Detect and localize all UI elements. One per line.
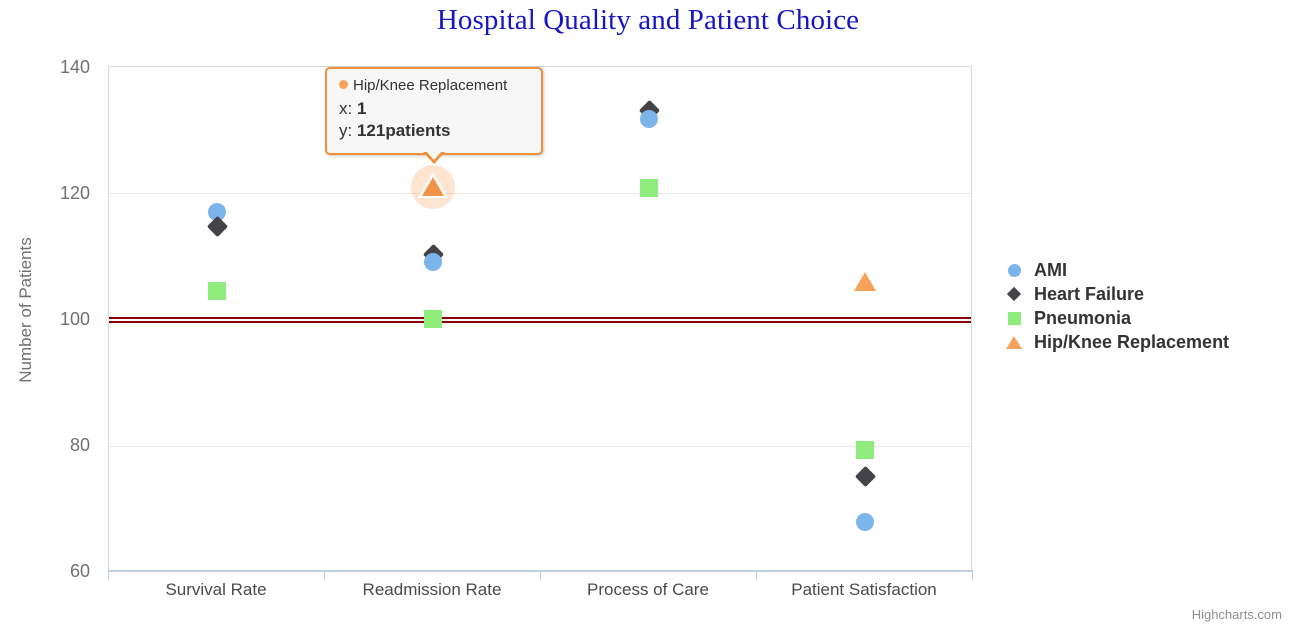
tooltip-y-label: y:: [339, 121, 352, 140]
legend-item-pneumonia[interactable]: Pneumonia: [1003, 306, 1229, 330]
point-ami-readmission-rate[interactable]: [424, 253, 442, 271]
chart-container: Hospital Quality and Patient Choice 140 …: [0, 0, 1296, 628]
tooltip-header: Hip/Knee Replacement: [339, 77, 529, 94]
tooltip-x-row: x: 1: [339, 98, 529, 120]
legend-diamond-icon: [1003, 289, 1025, 299]
legend-triangle-icon: [1003, 336, 1025, 349]
legend-item-ami[interactable]: AMI: [1003, 258, 1229, 282]
x-tick-1: [324, 571, 325, 580]
point-pneumonia-survival-rate[interactable]: [208, 282, 226, 300]
legend-label-pneumonia: Pneumonia: [1034, 308, 1131, 329]
legend-item-hip-knee-replacement[interactable]: Hip/Knee Replacement: [1003, 330, 1229, 354]
x-tick-0: [108, 571, 109, 580]
legend-label-hip-knee-replacement: Hip/Knee Replacement: [1034, 332, 1229, 353]
point-pneumonia-readmission-rate[interactable]: [424, 310, 442, 328]
tooltip-y-value: 121patients: [357, 121, 451, 140]
x-tick-3: [756, 571, 757, 580]
y-axis-title: Number of Patients: [16, 210, 36, 410]
point-hip-knee-patient-satisfaction[interactable]: [854, 272, 876, 291]
x-category-patient-satisfaction: Patient Satisfaction: [756, 580, 972, 600]
tooltip-x-value: 1: [357, 99, 366, 118]
x-tick-2: [540, 571, 541, 580]
point-heart-failure-survival-rate[interactable]: [207, 216, 228, 237]
legend-label-ami: AMI: [1034, 260, 1067, 281]
tooltip-series-name: Hip/Knee Replacement: [353, 77, 507, 94]
y-tick-label-120: 120: [30, 183, 90, 204]
legend: AMI Heart Failure Pneumonia Hip/Knee Rep…: [1003, 258, 1229, 354]
y-tick-label-60: 60: [30, 561, 90, 582]
point-pneumonia-process-of-care[interactable]: [640, 179, 658, 197]
gridline-120: [109, 193, 971, 194]
tooltip-arrow-fill: [426, 151, 442, 160]
x-tick-4: [972, 571, 973, 580]
x-category-process-of-care: Process of Care: [540, 580, 756, 600]
y-tick-label-80: 80: [30, 435, 90, 456]
point-ami-process-of-care[interactable]: [640, 110, 658, 128]
x-category-survival-rate: Survival Rate: [108, 580, 324, 600]
chart-title: Hospital Quality and Patient Choice: [0, 4, 1296, 37]
tooltip-x-label: x:: [339, 99, 352, 118]
legend-label-heart-failure: Heart Failure: [1034, 284, 1144, 305]
y-tick-label-100: 100: [30, 309, 90, 330]
legend-square-icon: [1003, 312, 1025, 325]
point-heart-failure-patient-satisfaction[interactable]: [855, 466, 876, 487]
tooltip-y-row: y: 121patients: [339, 120, 529, 142]
legend-item-heart-failure[interactable]: Heart Failure: [1003, 282, 1229, 306]
y-tick-label-140: 140: [30, 57, 90, 78]
highcharts-credit[interactable]: Highcharts.com: [1192, 607, 1282, 622]
tooltip-series-dot-icon: [339, 80, 348, 89]
x-category-readmission-rate: Readmission Rate: [324, 580, 540, 600]
gridline-80: [109, 446, 971, 447]
point-ami-patient-satisfaction[interactable]: [856, 513, 874, 531]
point-pneumonia-patient-satisfaction[interactable]: [856, 441, 874, 459]
tooltip: Hip/Knee Replacement x: 1 y: 121patients: [325, 67, 543, 155]
point-hip-knee-readmission-rate[interactable]: [422, 177, 444, 196]
legend-circle-icon: [1003, 264, 1025, 277]
plotline-100: [109, 317, 971, 323]
